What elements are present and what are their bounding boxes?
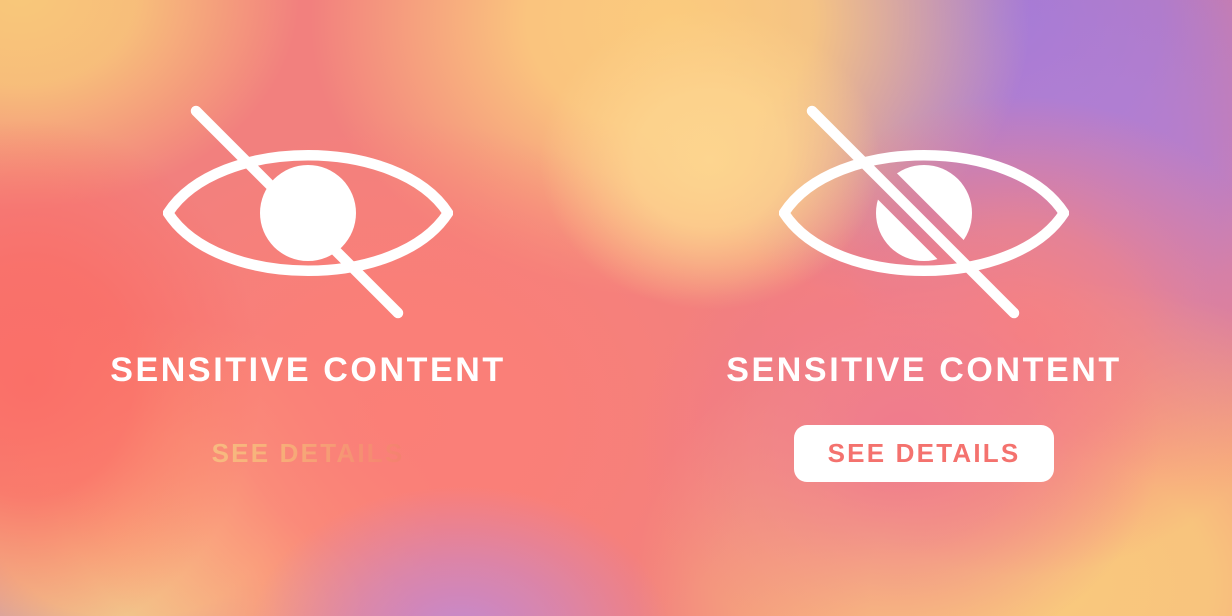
see-details-button[interactable]: SEE DETAILS	[178, 425, 439, 482]
content-cards-row: SENSITIVE CONTENT SEE DETAILS	[0, 0, 1232, 616]
sensitive-content-card-left: SENSITIVE CONTENT SEE DETAILS	[0, 0, 616, 616]
eye-pupil	[260, 165, 356, 261]
eye-slash-icon	[163, 96, 453, 321]
sensitive-content-screen: SENSITIVE CONTENT SEE DETAILS	[0, 0, 1232, 616]
page-title: SENSITIVE CONTENT	[726, 353, 1122, 387]
sensitive-content-card-right: SENSITIVE CONTENT SEE DETAILS	[616, 0, 1232, 616]
page-title: SENSITIVE CONTENT	[110, 353, 506, 387]
eye-slash-icon	[779, 96, 1069, 321]
see-details-button[interactable]: SEE DETAILS	[794, 425, 1055, 482]
eye-pupil-notched	[876, 165, 972, 261]
